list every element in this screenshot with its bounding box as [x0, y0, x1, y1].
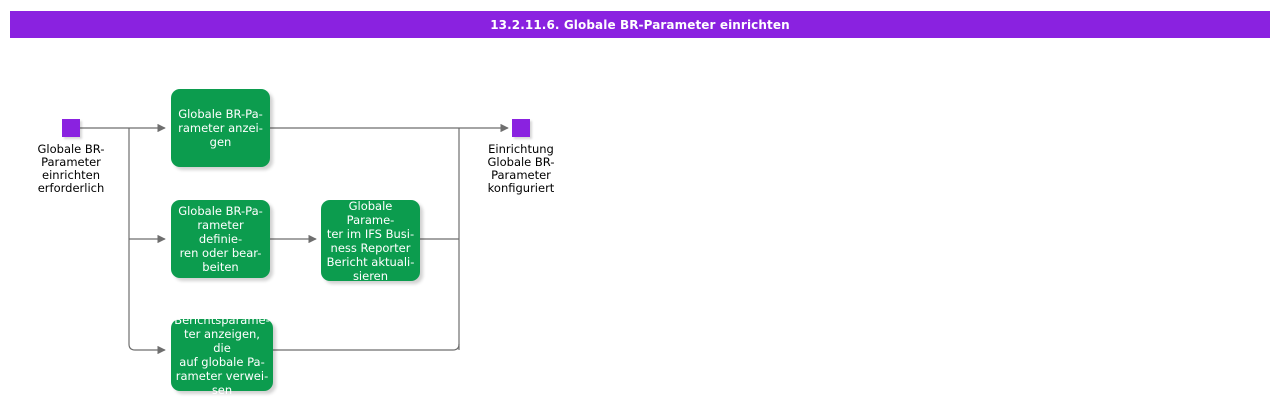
- activity-node-definieren-label: Globale BR-Pa- rameter definie- ren oder…: [175, 204, 266, 274]
- activity-node-aktualisieren-label: Globale Parame- ter im IFS Busi- ness Re…: [325, 199, 416, 283]
- start-terminal[interactable]: Globale BR- Parameter einrichten erforde…: [62, 119, 80, 137]
- diagram-canvas: 13.2.11.6. Globale BR-Parameter einricht…: [0, 0, 1280, 400]
- activity-node-berichtsparameter-label: Berichtsparame- ter anzeigen, die auf gl…: [174, 313, 270, 397]
- start-terminal-label: Globale BR- Parameter einrichten erforde…: [6, 143, 136, 195]
- wire-berichtsparameter-to-merge: [272, 344, 459, 350]
- activity-node-definieren[interactable]: Globale BR-Pa- rameter definie- ren oder…: [171, 200, 270, 278]
- end-terminal[interactable]: Einrichtung Globale BR- Parameter konfig…: [512, 119, 530, 137]
- page-title: 13.2.11.6. Globale BR-Parameter einricht…: [490, 18, 790, 32]
- activity-node-berichtsparameter[interactable]: Berichtsparame- ter anzeigen, die auf gl…: [171, 319, 273, 391]
- page-title-bar: 13.2.11.6. Globale BR-Parameter einricht…: [10, 11, 1270, 38]
- activity-node-anzeigen-label: Globale BR-Pa- rameter anzei- gen: [178, 107, 263, 149]
- start-terminal-swatch: [62, 119, 80, 137]
- end-terminal-swatch: [512, 119, 530, 137]
- end-terminal-label: Einrichtung Globale BR- Parameter konfig…: [456, 143, 586, 195]
- activity-node-anzeigen[interactable]: Globale BR-Pa- rameter anzei- gen: [171, 89, 270, 167]
- activity-node-aktualisieren[interactable]: Globale Parame- ter im IFS Busi- ness Re…: [321, 200, 420, 281]
